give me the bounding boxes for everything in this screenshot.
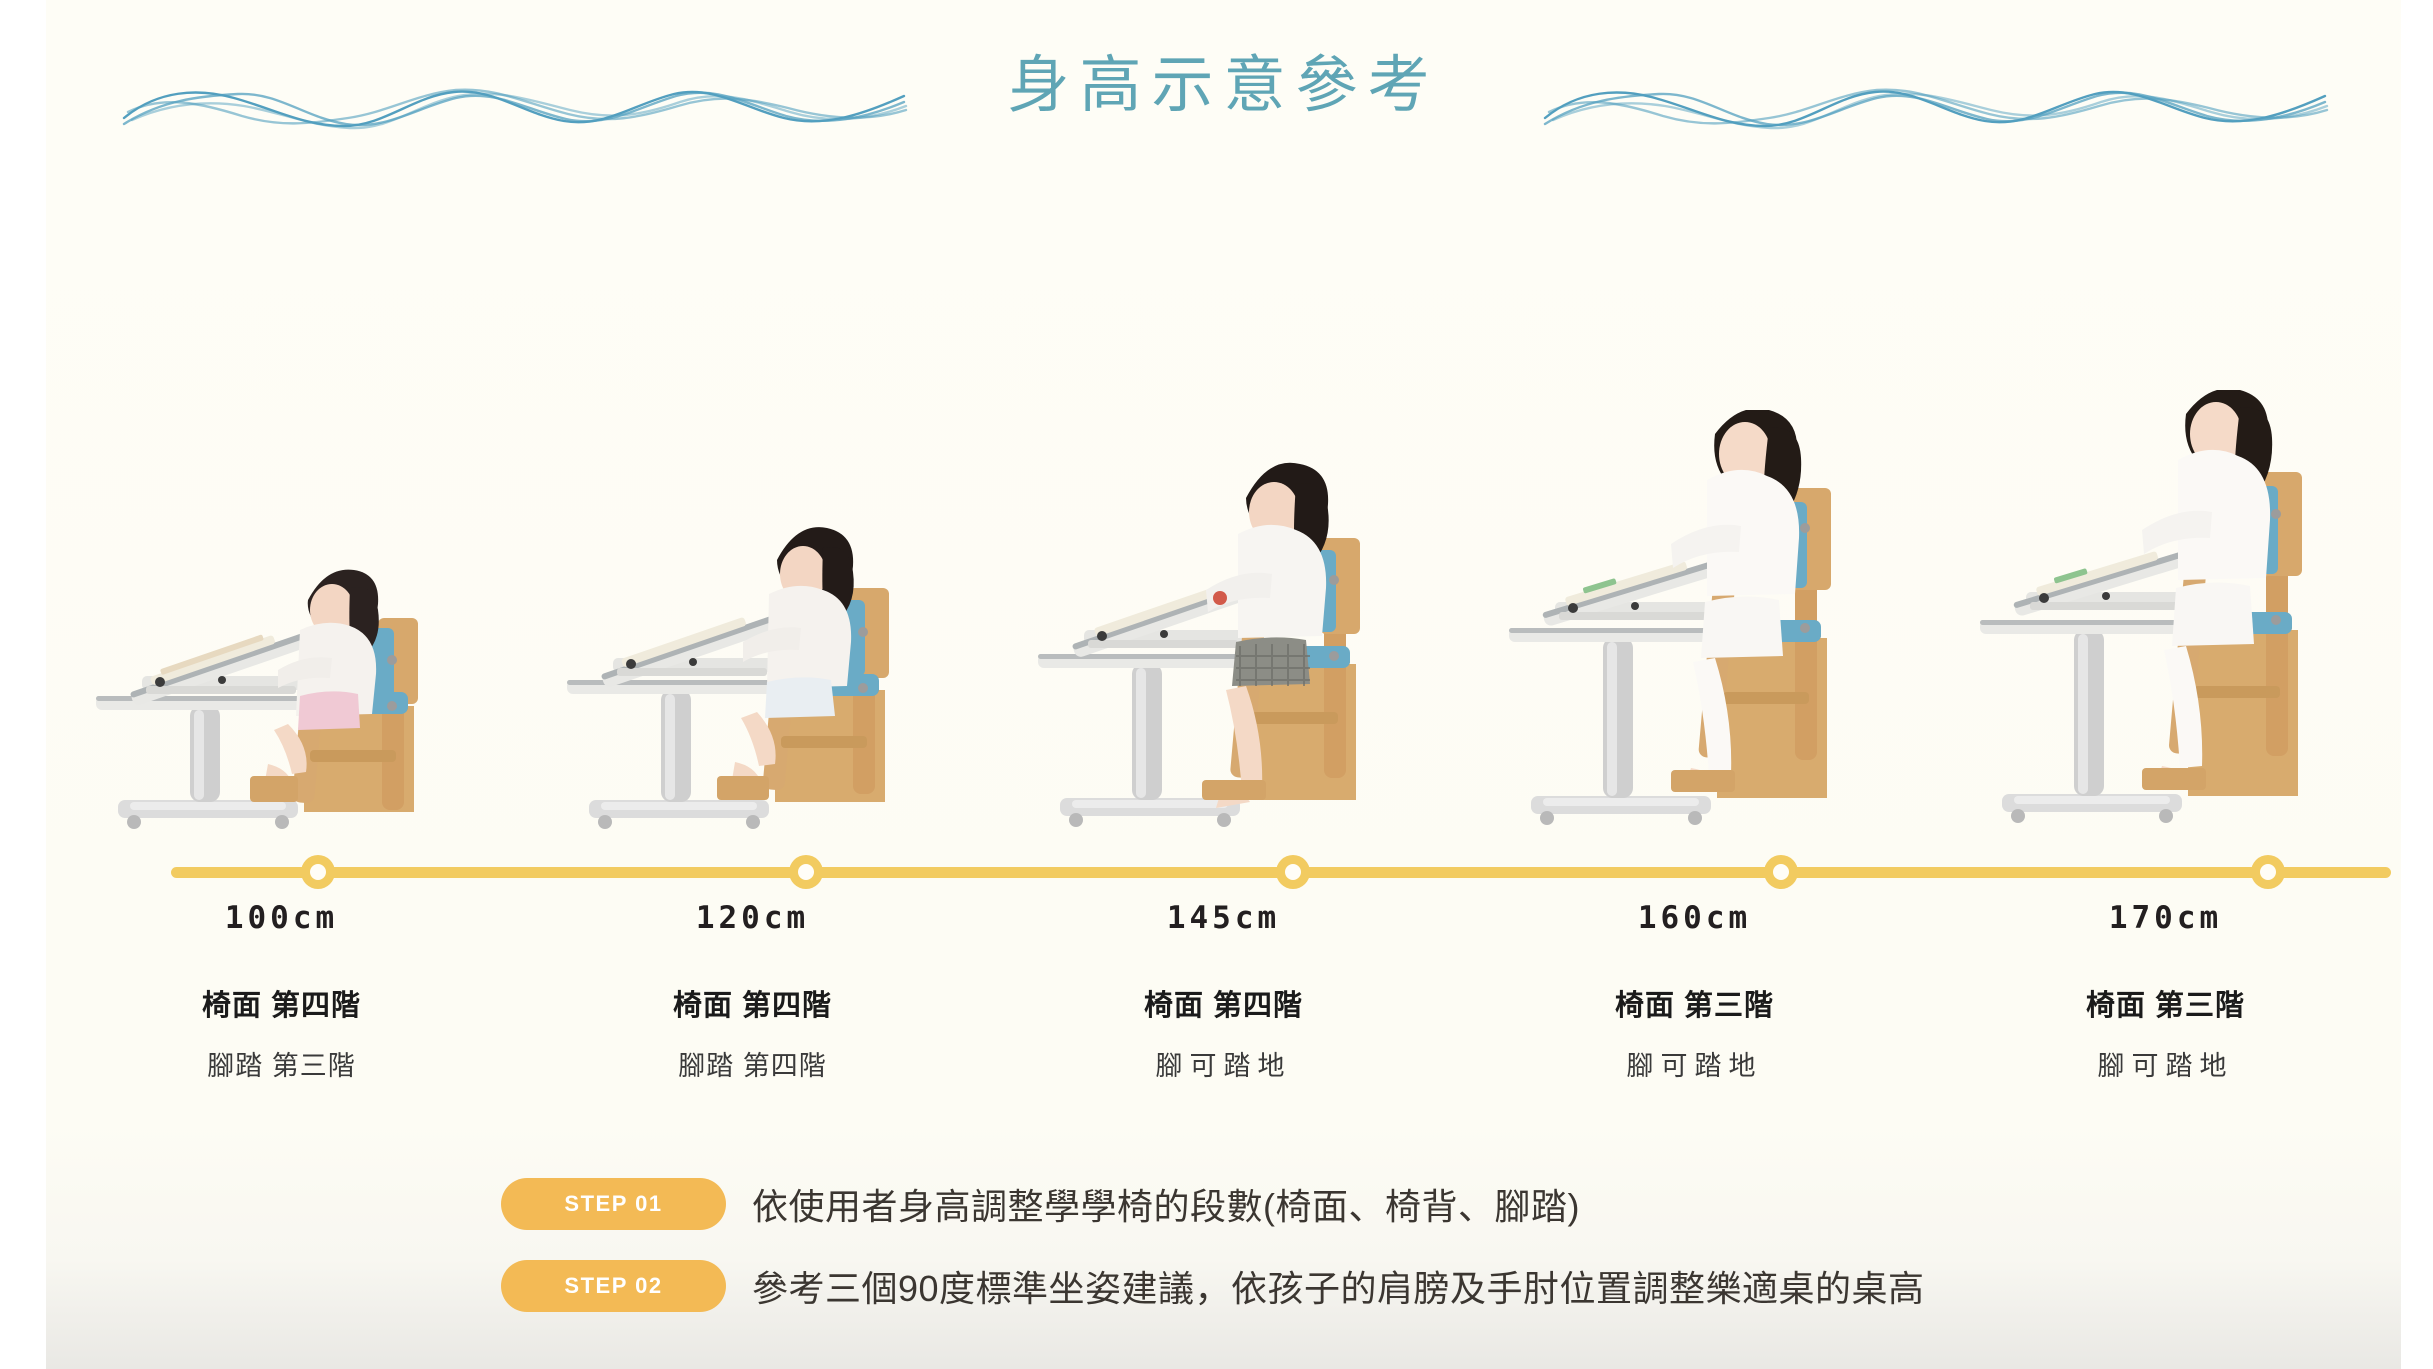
caption-cell-100cm: 100cm 椅面 第四階 腳踏 第三階 [46, 900, 517, 1083]
seat-level-label: 椅面 第四階 [988, 982, 1459, 1024]
timeline-marker-100cm[interactable] [301, 855, 335, 889]
figure-cell [517, 360, 988, 840]
timeline-marker-120cm[interactable] [789, 855, 823, 889]
content-panel: 身高示意參考 [46, 0, 2401, 1369]
step-row-01: STEP 01 依使用者身高調整學學椅的段數(椅面、椅背、腳踏) [501, 1178, 2301, 1230]
timeline-marker-145cm[interactable] [1276, 855, 1310, 889]
step-row-02: STEP 02 參考三個90度標準坐姿建議，依孩子的肩膀及手肘位置調整樂適桌的桌… [501, 1260, 2301, 1312]
steps-section: STEP 01 依使用者身高調整學學椅的段數(椅面、椅背、腳踏) STEP 02… [501, 1178, 2301, 1342]
timeline-marker-160cm[interactable] [1764, 855, 1798, 889]
caption-cell-170cm: 170cm 椅面 第三階 腳可踏地 [1930, 900, 2401, 1083]
footrest-level-label: 腳可踏地 [988, 1044, 1459, 1083]
footrest-level-label: 腳踏 第三階 [46, 1044, 517, 1083]
figure-cell [46, 360, 517, 840]
seat-level-label: 椅面 第四階 [517, 982, 988, 1024]
footrest-level-label: 腳踏 第四階 [517, 1044, 988, 1083]
figure-cell [988, 360, 1459, 840]
height-label: 145cm [988, 900, 1459, 936]
page-root: 身高示意參考 [0, 0, 2433, 1369]
footrest-level-label: 腳可踏地 [1459, 1044, 1930, 1083]
wave-decoration-right-icon [1539, 74, 2329, 134]
step-badge-01: STEP 01 [501, 1178, 726, 1230]
caption-cell-145cm: 145cm 椅面 第四階 腳可踏地 [988, 900, 1459, 1083]
height-timeline [171, 855, 2391, 889]
adult-seated-at-desk-160-photo [1495, 410, 1895, 840]
adult-seated-at-desk-170-photo [1966, 390, 2366, 840]
figure-cell [1930, 360, 2401, 840]
height-label: 170cm [1930, 900, 2401, 936]
height-label: 160cm [1459, 900, 1930, 936]
caption-cell-120cm: 120cm 椅面 第四階 腳踏 第四階 [517, 900, 988, 1083]
child-seated-at-desk-100-photo [82, 510, 482, 840]
figure-cell [1459, 360, 1930, 840]
timeline-marker-170cm[interactable] [2251, 855, 2285, 889]
step-text-01: 依使用者身高調整學學椅的段數(椅面、椅背、腳踏) [752, 1178, 1580, 1230]
step-text-02: 參考三個90度標準坐姿建議，依孩子的肩膀及手肘位置調整樂適桌的桌高 [752, 1260, 1925, 1312]
height-label: 100cm [46, 900, 517, 936]
footrest-level-label: 腳可踏地 [1930, 1044, 2401, 1083]
child-seated-at-desk-120-photo [553, 490, 953, 840]
header: 身高示意參考 [46, 30, 2401, 140]
step-badge-02: STEP 02 [501, 1260, 726, 1312]
caption-row: 100cm 椅面 第四階 腳踏 第三階 120cm 椅面 第四階 腳踏 第四階 … [46, 900, 2401, 1083]
seat-level-label: 椅面 第三階 [1459, 982, 1930, 1024]
seat-level-label: 椅面 第三階 [1930, 982, 2401, 1024]
height-label: 120cm [517, 900, 988, 936]
figure-row [46, 360, 2401, 840]
seat-level-label: 椅面 第四階 [46, 982, 517, 1024]
caption-cell-160cm: 160cm 椅面 第三階 腳可踏地 [1459, 900, 1930, 1083]
child-seated-at-desk-145-photo [1024, 450, 1424, 840]
